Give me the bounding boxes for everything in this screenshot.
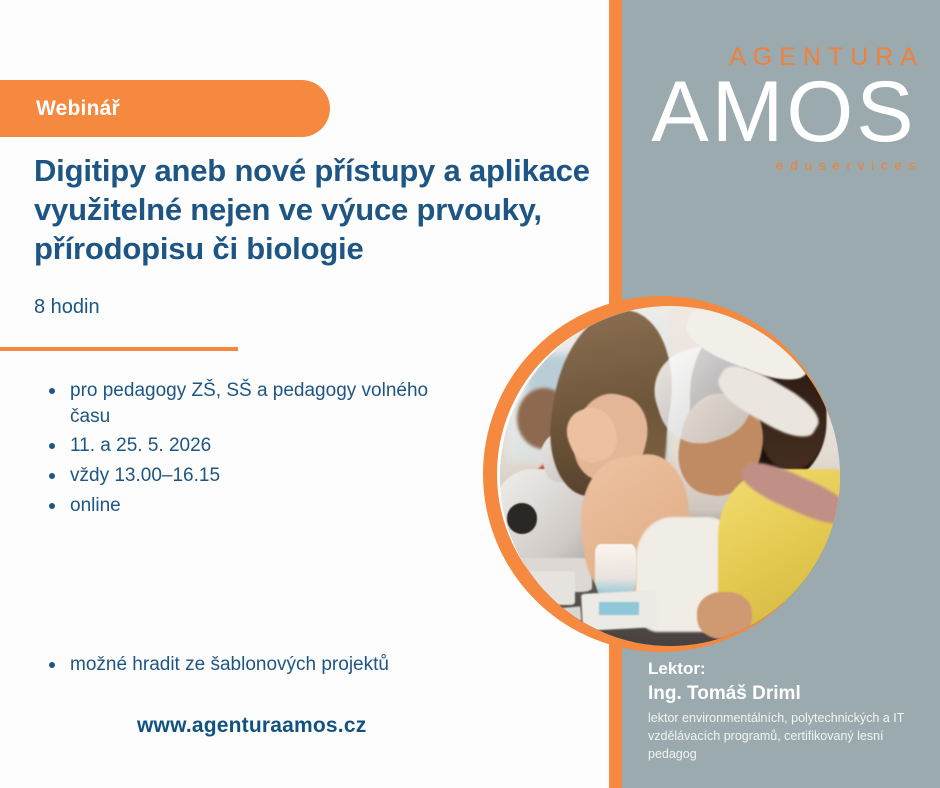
photo-right-girl-hand bbox=[697, 592, 751, 640]
amos-logo: AGENTURA AMOS eduservices bbox=[640, 45, 928, 172]
photo-lab-tray bbox=[507, 571, 575, 605]
webinar-poster: AGENTURA AMOS eduservices Webinář Digiti… bbox=[0, 0, 940, 788]
webinar-badge: Webinář bbox=[0, 80, 330, 137]
list-item: pro pedagogy ZŠ, SŠ a pedagogy volného č… bbox=[42, 378, 472, 429]
course-details-list: pro pedagogy ZŠ, SŠ a pedagogy volného č… bbox=[42, 378, 472, 522]
photo-microscope-knob bbox=[507, 503, 538, 534]
list-item: možné hradit ze šablonových projektů bbox=[42, 652, 512, 678]
lecturer-label: Lektor: bbox=[648, 658, 934, 680]
orange-divider bbox=[0, 347, 238, 351]
photo-scene bbox=[500, 306, 840, 646]
logo-amos-text: AMOS bbox=[640, 72, 928, 154]
website-link[interactable]: www.agenturaamos.cz bbox=[137, 714, 366, 738]
students-lab-photo bbox=[500, 306, 840, 646]
course-duration: 8 hodin bbox=[34, 296, 100, 319]
webinar-badge-label: Webinář bbox=[0, 97, 120, 121]
list-item: online bbox=[42, 493, 472, 519]
lecturer-description: lektor environmentálních, polytechnickýc… bbox=[648, 709, 934, 763]
lecturer-name: Ing. Tomáš Driml bbox=[648, 680, 934, 708]
list-item: 11. a 25. 5. 2026 bbox=[42, 433, 472, 459]
funding-list: možné hradit ze šablonových projektů bbox=[42, 652, 512, 678]
photo-specimen-box-label bbox=[599, 602, 640, 616]
page-title: Digitipy aneb nové přístupy a aplikace v… bbox=[34, 152, 604, 268]
list-item: vždy 13.00–16.15 bbox=[42, 463, 472, 489]
lecturer-block: Lektor: Ing. Tomáš Driml lektor environm… bbox=[648, 658, 934, 763]
